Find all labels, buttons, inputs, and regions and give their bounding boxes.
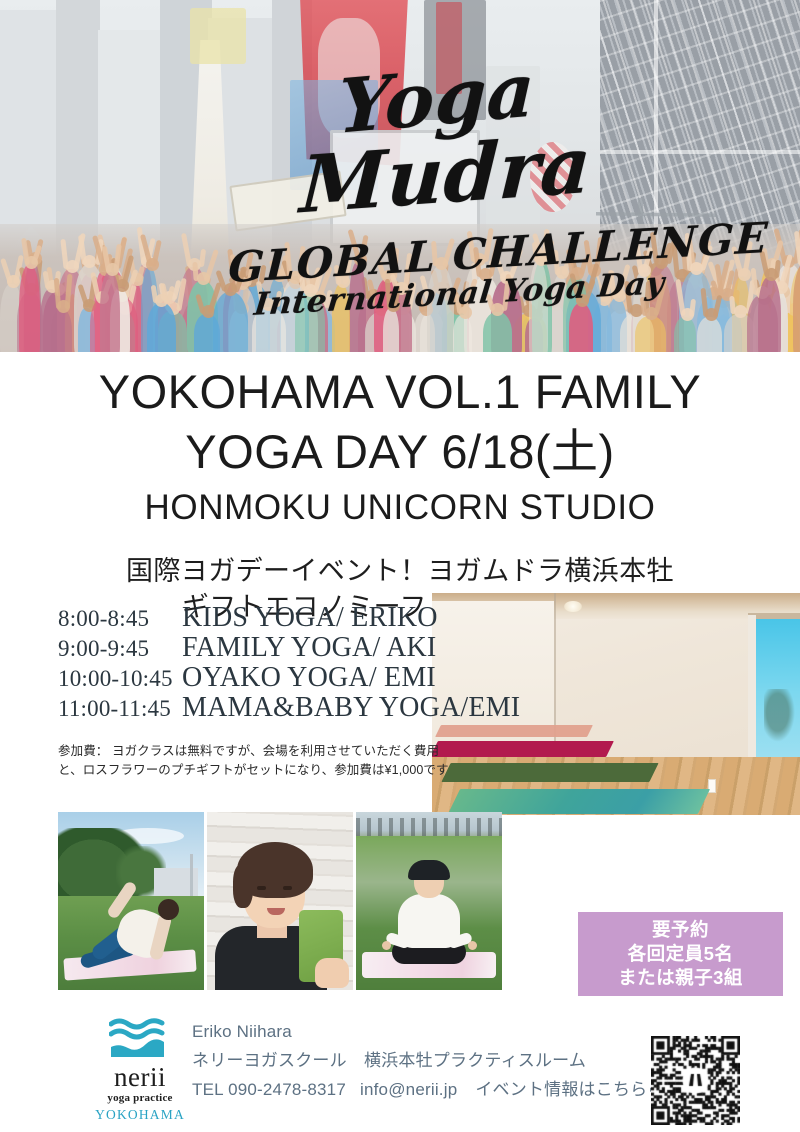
logo-tagline: yoga practice: [92, 1092, 188, 1104]
contact-tel[interactable]: TEL 090-2478-8317: [192, 1075, 346, 1104]
fee-line-2: と、ロスフラワーのプチギフトがセットになり、参加費は¥1,000です: [58, 761, 470, 780]
schedule-class-name: KIDS YOGA/ ERIKO: [182, 603, 438, 632]
brand-word-mudra: Mudra: [298, 120, 594, 232]
venue-name: HONMOKU UNICORN STUDIO: [0, 484, 800, 531]
ceiling-light: [564, 601, 582, 612]
fee-line-1: 参加費： ヨガクラスは無料ですが、会場を利用させていただく費用: [58, 742, 470, 761]
photo-instructor-portrait: [207, 812, 353, 990]
event-title-line1: YOKOHAMA VOL.1 FAMILY: [0, 362, 800, 422]
fee-fine-print: 参加費： ヨガクラスは無料ですが、会場を利用させていただく費用 と、ロスフラワー…: [58, 742, 470, 780]
contact-email[interactable]: info@nerii.jp: [360, 1075, 457, 1104]
banner-title-overlay: Yoga Mudra GLOBAL CHALLENGE Internationa…: [0, 0, 800, 352]
schedule-time: 10:00-10:45: [58, 664, 182, 693]
event-link-label: イベント情報はこちら: [475, 1075, 647, 1104]
schedule-time: 8:00-8:45: [58, 604, 182, 633]
class-schedule-list: 8:00-8:45KIDS YOGA/ ERIKO9:00-9:45FAMILY…: [58, 603, 520, 723]
schedule-class-name: OYAKO YOGA/ EMI: [182, 663, 436, 692]
schedule-class-name: MAMA&BABY YOGA/EMI: [182, 693, 520, 722]
reservation-line-1: 要予約: [652, 918, 709, 942]
contact-block: Eriko Niihara ネリーヨガスクール 横浜本牡プラクティスルーム TE…: [192, 1018, 664, 1104]
event-subtitle-jp-line1: 国際ヨガデーイベント！ヨガムドラ横浜本牡: [0, 553, 800, 589]
schedule-row: 9:00-9:45FAMILY YOGA/ AKI: [58, 633, 520, 663]
title-block: YOKOHAMA VOL.1 FAMILY YOGA DAY 6/18(土) H…: [0, 362, 800, 625]
schedule-class-name: FAMILY YOGA/ AKI: [182, 633, 436, 662]
schedule-row: 11:00-11:45MAMA&BABY YOGA/EMI: [58, 693, 520, 723]
tree-outside-window: [764, 689, 798, 747]
photo-side-plank: [58, 812, 204, 990]
qr-code[interactable]: [651, 1036, 740, 1125]
schedule-time: 9:00-9:45: [58, 634, 182, 663]
schedule-row: 10:00-10:45OYAKO YOGA/ EMI: [58, 663, 520, 693]
reservation-notice-box: 要予約 各回定員5名 または親子3組: [578, 912, 783, 996]
contact-name: Eriko Niihara: [192, 1018, 664, 1046]
event-title-line2: YOGA DAY 6/18(土): [0, 422, 800, 482]
nerii-logo: nerii yoga practice YOKOHAMA: [92, 1017, 188, 1123]
nerii-wave-mark-icon: [109, 1017, 171, 1063]
photo-strip: [58, 812, 503, 990]
logo-wordmark: nerii: [92, 1064, 188, 1091]
photo-seated-meditation: [356, 812, 502, 990]
schedule-row: 8:00-8:45KIDS YOGA/ ERIKO: [58, 603, 520, 633]
yoga-mat: [441, 763, 658, 782]
hero-banner: Yoga Mudra GLOBAL CHALLENGE Internationa…: [0, 0, 800, 352]
schedule-time: 11:00-11:45: [58, 694, 182, 723]
contact-school: ネリーヨガスクール 横浜本牡プラクティスルーム: [192, 1046, 664, 1075]
contact-details: TEL 090-2478-8317 info@nerii.jp イベント情報はこ…: [192, 1075, 664, 1104]
yoga-mat: [448, 789, 710, 814]
reservation-line-2: 各回定員5名: [628, 942, 734, 966]
logo-city: YOKOHAMA: [92, 1107, 188, 1123]
reservation-line-3: または親子3組: [618, 966, 743, 990]
yoga-mat: [435, 725, 593, 737]
